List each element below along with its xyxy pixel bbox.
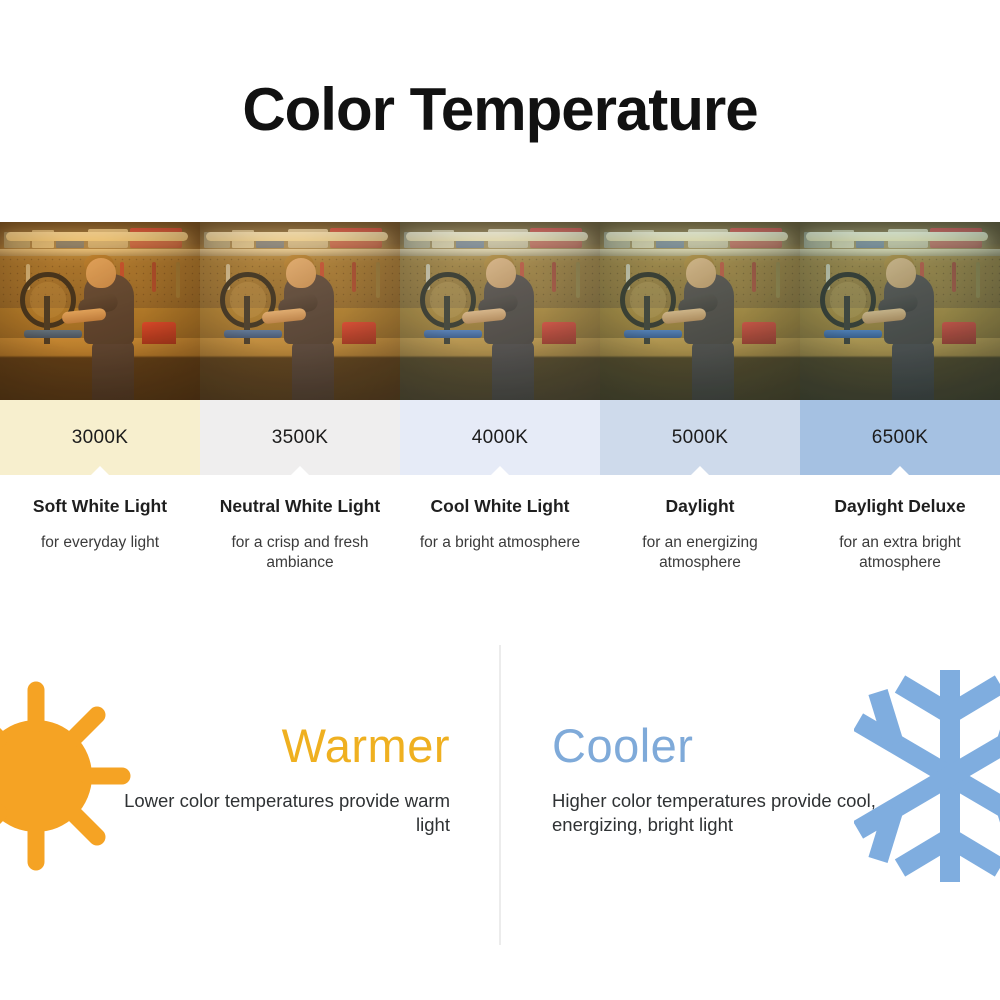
description-col-4000k: Cool White Light for a bright atmosphere: [400, 495, 600, 572]
kelvin-label: 4000K: [472, 427, 528, 449]
swatch-notch: [491, 466, 509, 475]
description-col-5000k: Daylight for an energizing atmosphere: [600, 495, 800, 572]
description-col-6500k: Daylight Deluxe for an extra bright atmo…: [800, 495, 1000, 572]
kelvin-swatch-5000k[interactable]: 5000K: [600, 400, 800, 475]
cooler-heading: Cooler: [552, 722, 882, 769]
swatch-notch: [691, 466, 709, 475]
warmer-heading: Warmer: [120, 722, 450, 769]
light-description: for everyday light: [16, 533, 184, 552]
photo-cell-4000k: [400, 222, 600, 400]
cooler-legend: Cooler Higher color temperatures provide…: [552, 722, 882, 836]
photo-strip: [0, 222, 1000, 400]
description-col-3500k: Neutral White Light for a crisp and fres…: [200, 495, 400, 572]
legend-divider: [499, 645, 501, 945]
light-description: for a bright atmosphere: [416, 533, 584, 552]
photo-cell-3500k: [200, 222, 400, 400]
workshop-photo-3500k: [200, 222, 400, 400]
kelvin-swatch-6500k[interactable]: 6500K: [800, 400, 1000, 475]
page-title: Color Temperature: [0, 78, 1000, 141]
description-row: Soft White Light for everyday light Neut…: [0, 495, 1000, 572]
swatch-notch: [91, 466, 109, 475]
kelvin-label: 5000K: [672, 427, 728, 449]
description-col-3000k: Soft White Light for everyday light: [0, 495, 200, 572]
color-temperature-infographic: Color Temperature: [0, 0, 1000, 1000]
kelvin-label: 3500K: [272, 427, 328, 449]
photo-cell-6500k: [800, 222, 1000, 400]
light-name: Daylight: [616, 495, 784, 517]
kelvin-swatch-4000k[interactable]: 4000K: [400, 400, 600, 475]
kelvin-swatch-row: 3000K 3500K 4000K 5000K 6500K: [0, 400, 1000, 475]
sun-icon: [0, 672, 140, 880]
light-description: for an energizing atmosphere: [616, 533, 784, 572]
warmer-blurb: Lower color temperatures provide warm li…: [120, 789, 450, 836]
workshop-photo-3000k: [0, 222, 200, 400]
light-name: Cool White Light: [416, 495, 584, 517]
light-description: for a crisp and fresh ambiance: [216, 533, 384, 572]
workshop-photo-4000k: [400, 222, 600, 400]
kelvin-label: 6500K: [872, 427, 928, 449]
kelvin-swatch-3000k[interactable]: 3000K: [0, 400, 200, 475]
kelvin-label: 3000K: [72, 427, 128, 449]
light-name: Neutral White Light: [216, 495, 384, 517]
light-description: for an extra bright atmosphere: [816, 533, 984, 572]
swatch-notch: [891, 466, 909, 475]
kelvin-swatch-3500k[interactable]: 3500K: [200, 400, 400, 475]
light-name: Daylight Deluxe: [816, 495, 984, 517]
light-name: Soft White Light: [16, 495, 184, 517]
warmer-legend: Warmer Lower color temperatures provide …: [120, 722, 450, 836]
photo-cell-5000k: [600, 222, 800, 400]
cooler-blurb: Higher color temperatures provide cool, …: [552, 789, 882, 836]
workshop-photo-5000k: [600, 222, 800, 400]
swatch-notch: [291, 466, 309, 475]
photo-cell-3000k: [0, 222, 200, 400]
workshop-photo-6500k: [800, 222, 1000, 400]
